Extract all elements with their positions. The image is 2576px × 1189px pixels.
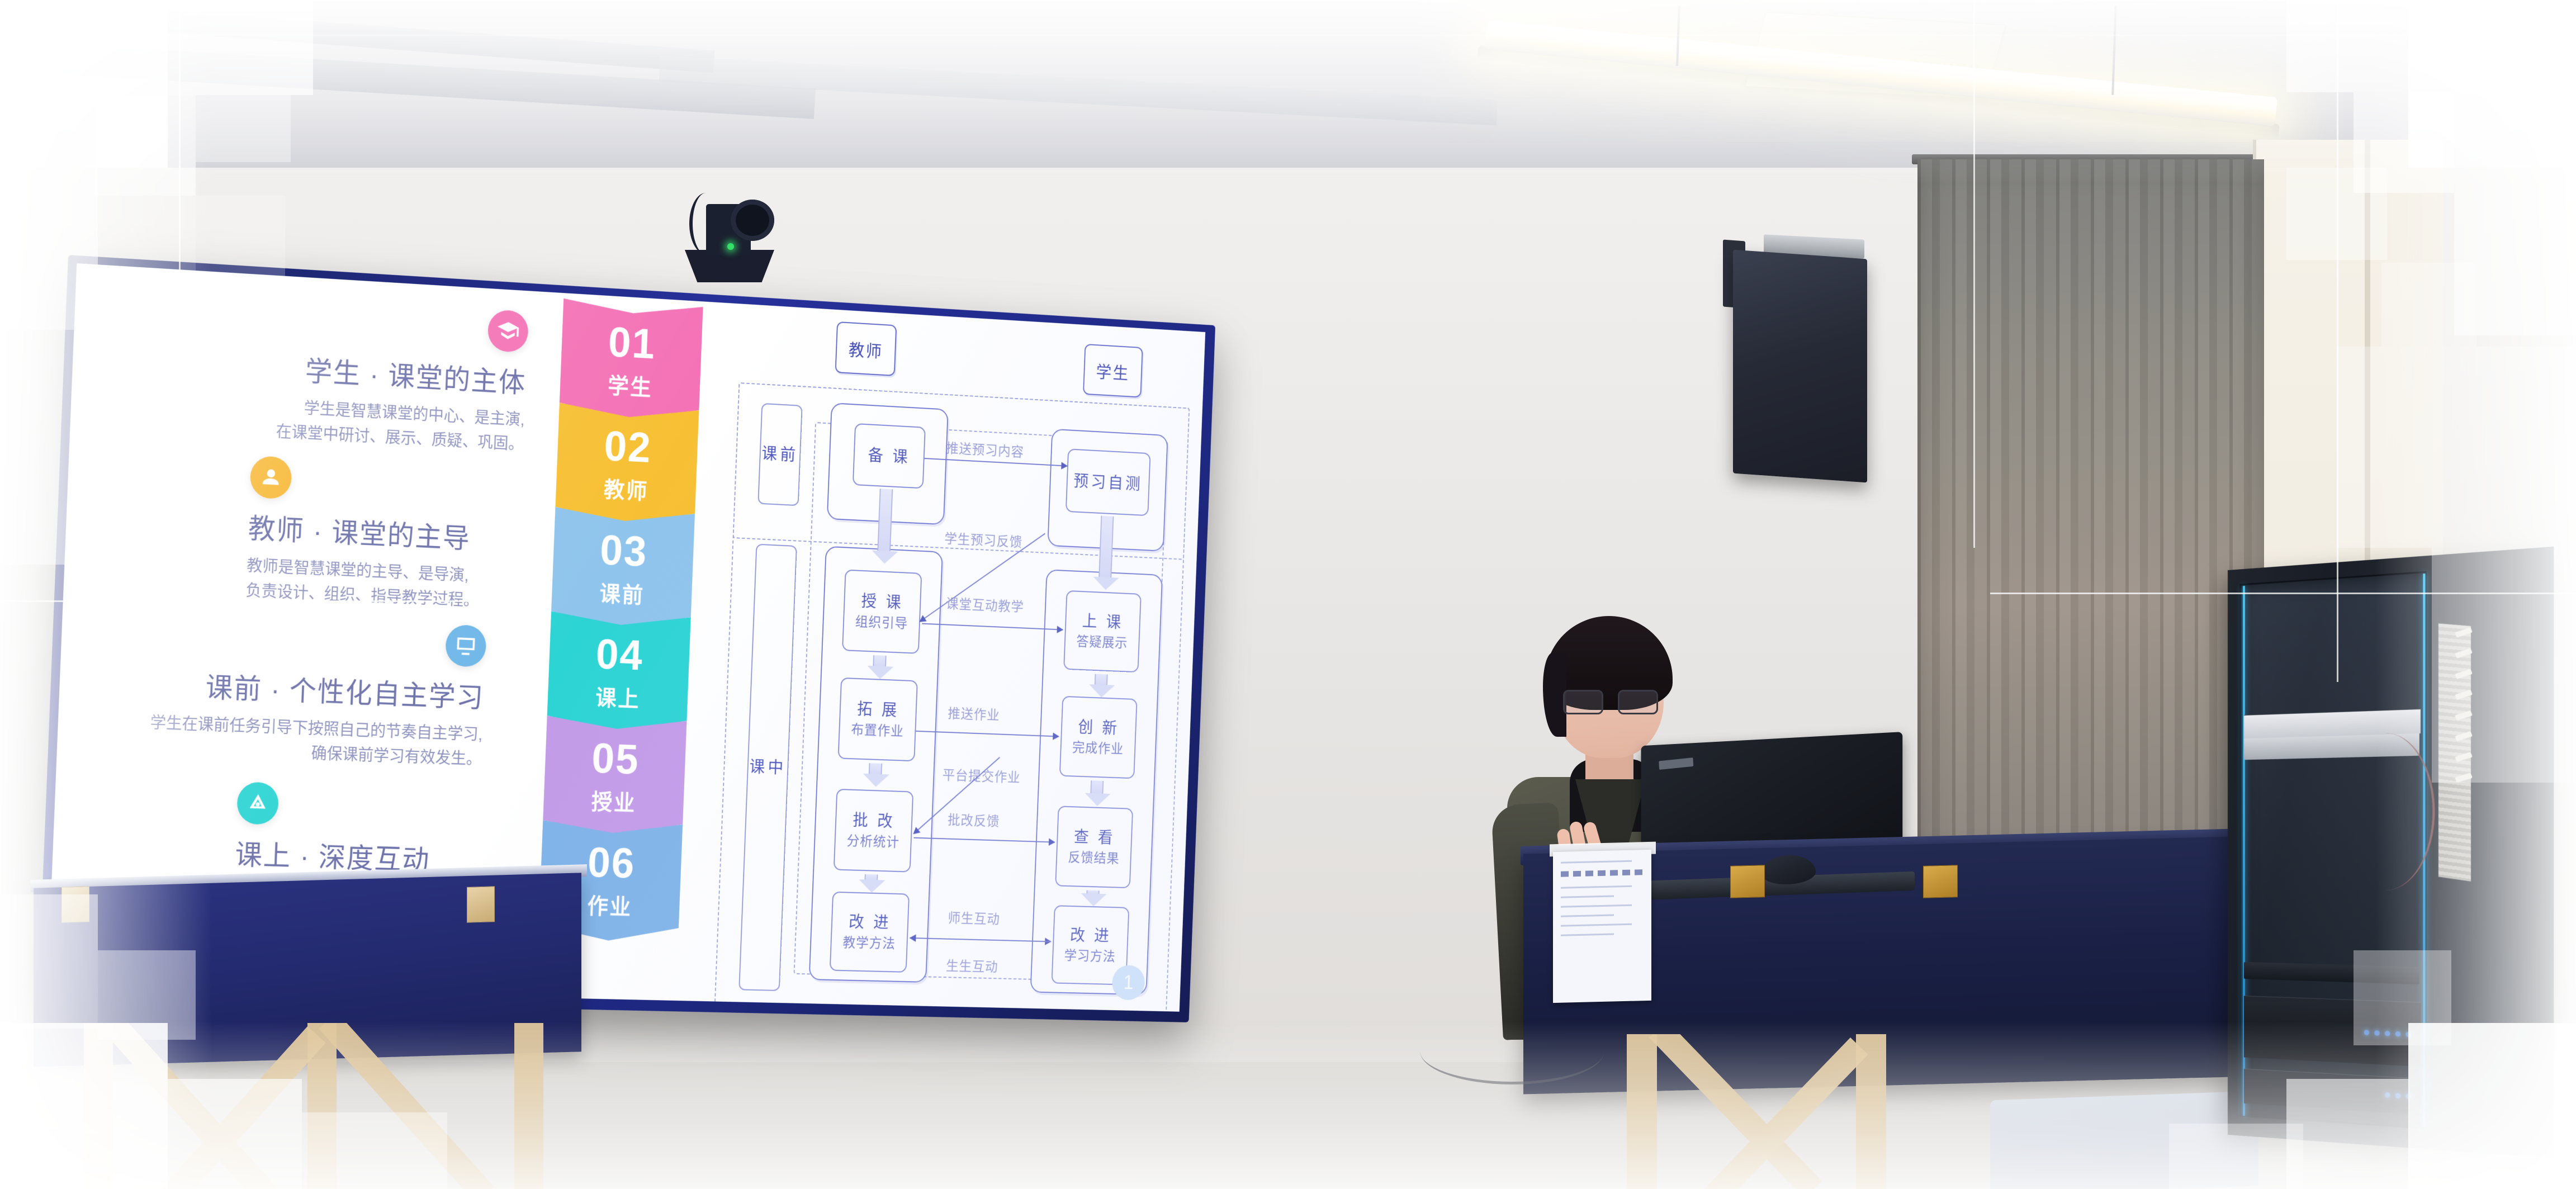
rack-amplifier: [2244, 996, 2421, 1067]
node-title: 授 课: [861, 591, 904, 614]
edge-label-push-preview: 推送预习内容: [946, 438, 1025, 461]
node-subtitle: 教学方法: [842, 934, 896, 953]
slide-item-preclass: 课前 · 个性化自主学习 学生在课前任务引导下按照自己的节奏自主学习, 确保课前…: [48, 608, 486, 772]
node-teach[interactable]: 授 课 组织引导: [842, 570, 922, 654]
monitor-book-icon: [445, 624, 487, 667]
chevron-label: 课上: [595, 680, 641, 713]
camera-status-led: [727, 243, 734, 250]
podium-plate: [1923, 865, 1958, 898]
flow-arrow-down: [1090, 780, 1104, 794]
node-subtitle: 答疑展示: [1076, 633, 1128, 653]
node-title: 批 改: [853, 810, 896, 832]
chevron-02[interactable]: 02 教师: [555, 402, 699, 528]
chevron-01[interactable]: 01 学生: [559, 299, 703, 424]
slide-item-heading: 课前 · 个性化自主学习: [50, 659, 485, 716]
flow-arrow-down: [869, 763, 882, 775]
desk-clip: [61, 886, 89, 922]
chevron-label: 教师: [603, 472, 649, 505]
rack-side-vent: [2455, 629, 2479, 875]
node-subtitle: 布置作业: [851, 721, 904, 741]
graduation-cap-icon: [487, 309, 529, 353]
node-attend[interactable]: 上 课 答疑展示: [1063, 590, 1142, 672]
lane-label-text: 课前: [761, 443, 799, 466]
edge-label-submit-platform: 平台提交作业: [942, 765, 1021, 787]
chevron-number: 05: [591, 737, 640, 779]
node-extend[interactable]: 拓 展 布置作业: [838, 678, 918, 761]
node-subtitle: 分析统计: [846, 832, 899, 851]
lane-label-text: 课中: [749, 756, 787, 779]
node-subtitle: 完成作业: [1072, 739, 1124, 758]
podium-plate: [1730, 865, 1765, 898]
role-teacher: 教师: [835, 321, 897, 376]
chevron-number: 03: [599, 529, 648, 572]
wall-speaker-icon: [1733, 250, 1867, 483]
chevron-stack: 01 学生 02 教师 03 课前 04 课上: [539, 299, 709, 929]
flow-diagram: 教师 学生 课前 课中: [710, 311, 1205, 1012]
flow-arrow-down: [877, 489, 893, 552]
edge-label-preview-feedback: 学生预习反馈: [944, 528, 1023, 551]
role-student: 学生: [1083, 344, 1143, 397]
interaction-icon: [236, 781, 280, 825]
edge-label-ss-interact: 生生互动: [946, 955, 998, 975]
edge-label-grade-feedback: 批改反馈: [948, 809, 1000, 830]
node-preview[interactable]: 预习自测: [1066, 448, 1151, 516]
glasses-icon: [1563, 690, 1658, 712]
slide-item-student: 学生 · 课堂的主体 学生是智慧课堂的中心、是主演, 在课堂中研讨、展示、质疑、…: [92, 286, 529, 457]
node-prep[interactable]: 备 课: [853, 423, 926, 489]
laptop-logo: [1659, 757, 1693, 770]
desk-clip: [467, 886, 495, 922]
desk-legs: [67, 1023, 570, 1189]
node-subtitle: 反馈结果: [1068, 849, 1120, 868]
chevron-04[interactable]: 04 课上: [547, 612, 691, 735]
flow-arrow-down: [1098, 516, 1114, 579]
lane-label-before: 课前: [757, 403, 802, 506]
node-title: 预习自测: [1073, 470, 1143, 494]
node-subtitle: 组织引导: [855, 613, 908, 633]
edge-label-class-interact: 课堂互动教学: [946, 593, 1025, 615]
flow-arrow-down: [1095, 674, 1108, 686]
node-review[interactable]: 查 看 反馈结果: [1055, 806, 1133, 888]
node-title: 拓 展: [857, 699, 900, 721]
audience-chair: [1990, 1091, 2258, 1189]
node-grade[interactable]: 批 改 分析统计: [834, 789, 913, 873]
edge-label-push-homework: 推送作业: [948, 703, 1000, 724]
node-title: 改 进: [849, 911, 892, 933]
podium-paper-note: [1553, 850, 1651, 1003]
edge-label-ts-interact: 师生互动: [948, 907, 1000, 928]
chevron-number: 06: [587, 842, 636, 883]
node-title: 备 课: [868, 444, 911, 467]
rack-led-indicators: [2385, 1092, 2411, 1099]
chevron-03[interactable]: 03 课前: [551, 507, 695, 632]
screenshot-root: 学生 · 课堂的主体 学生是智慧课堂的中心、是主演, 在课堂中研讨、展示、质疑、…: [0, 0, 2576, 1189]
av-equipment-rack: [2228, 547, 2554, 1158]
ptz-camera-icon: [679, 187, 780, 282]
chevron-label: 作业: [587, 888, 633, 921]
node-title: 改 进: [1070, 925, 1112, 946]
slide-item-desc: 学生在课前任务引导下按照自己的节奏自主学习, 确保课前学习有效发生。: [48, 707, 482, 772]
node-title: 上 课: [1082, 610, 1124, 633]
node-subtitle: 学习方法: [1064, 948, 1116, 966]
flow-arrow-down: [1086, 890, 1099, 895]
node-improve-teaching[interactable]: 改 进 教学方法: [830, 892, 910, 973]
node-title: 创 新: [1078, 717, 1120, 739]
node-title: 查 看: [1073, 827, 1115, 849]
node-innovate[interactable]: 创 新 完成作业: [1059, 696, 1138, 779]
chevron-number: 04: [595, 633, 644, 675]
chevron-number: 01: [608, 321, 656, 364]
rack-led-indicators: [2364, 1030, 2411, 1037]
camera-lens-icon: [731, 200, 774, 241]
chevron-label: 课前: [599, 576, 645, 609]
flow-arrow-down: [873, 655, 886, 667]
chevron-label: 授业: [591, 784, 637, 817]
chevron-number: 02: [604, 425, 652, 468]
person-icon: [249, 456, 292, 500]
flow-arrow-down: [864, 874, 878, 881]
chevron-label: 学生: [607, 368, 653, 402]
chevron-05[interactable]: 05 授业: [542, 716, 686, 839]
